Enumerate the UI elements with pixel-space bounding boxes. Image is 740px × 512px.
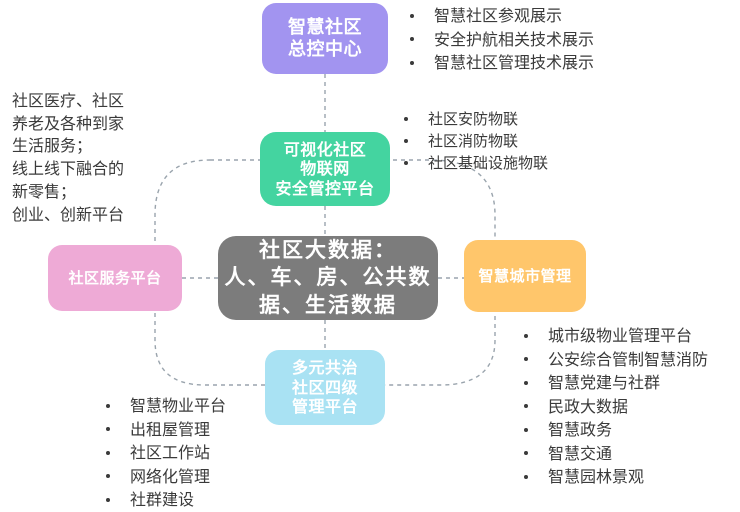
list-item: 社区安防物联 xyxy=(398,108,548,130)
list-item: 出租屋管理 xyxy=(100,418,226,442)
list-item: 智慧社区参观展示 xyxy=(404,4,594,28)
list-item: 社群建设 xyxy=(100,488,226,512)
list-item: 社区基础设施物联 xyxy=(398,152,548,174)
list-item: 社区工作站 xyxy=(100,441,226,465)
node-smart-city-management[interactable]: 智慧城市管理 xyxy=(464,240,586,312)
list-item: 智慧政务 xyxy=(518,418,708,442)
list-item: 智慧园林景观 xyxy=(518,465,708,489)
list-item: 智慧社区管理技术展示 xyxy=(404,51,594,75)
list-item: 网络化管理 xyxy=(100,465,226,489)
bullets-bottom-left: 智慧物业平台 出租屋管理 社区工作站 网络化管理 社群建设 xyxy=(100,394,226,512)
list-item: 安全护航相关技术展示 xyxy=(404,28,594,52)
bullets-upper-right: 社区安防物联 社区消防物联 社区基础设施物联 xyxy=(398,108,548,174)
diagram-canvas: 智慧社区 总控中心 可视化社区 物联网 安全管控平台 社区服务平台 社区大数据：… xyxy=(0,0,740,512)
list-item: 城市级物业管理平台 xyxy=(518,324,708,348)
node-community-service-platform[interactable]: 社区服务平台 xyxy=(48,245,182,311)
bullets-bottom-right: 城市级物业管理平台 公安综合管制智慧消防 智慧党建与社群 民政大数据 智慧政务 … xyxy=(518,324,708,489)
node-top-control-center[interactable]: 智慧社区 总控中心 xyxy=(262,3,388,74)
list-item: 智慧物业平台 xyxy=(100,394,226,418)
text-left-services: 社区医疗、社区 养老及各种到家 生活服务； 线上线下融合的 新零售； 创业、创新… xyxy=(12,90,124,226)
list-item: 公安综合管制智慧消防 xyxy=(518,348,708,372)
node-four-tier-governance-platform[interactable]: 多元共治 社区四级 管理平台 xyxy=(265,350,385,425)
list-item: 社区消防物联 xyxy=(398,130,548,152)
list-item: 智慧党建与社群 xyxy=(518,371,708,395)
bullets-top-right: 智慧社区参观展示 安全护航相关技术展示 智慧社区管理技术展示 xyxy=(404,4,594,75)
list-item: 智慧交通 xyxy=(518,442,708,466)
node-iot-security-platform[interactable]: 可视化社区 物联网 安全管控平台 xyxy=(260,132,390,206)
list-item: 民政大数据 xyxy=(518,395,708,419)
node-center-big-data[interactable]: 社区大数据： 人、车、房、公共数 据、生活数据 xyxy=(218,236,438,320)
